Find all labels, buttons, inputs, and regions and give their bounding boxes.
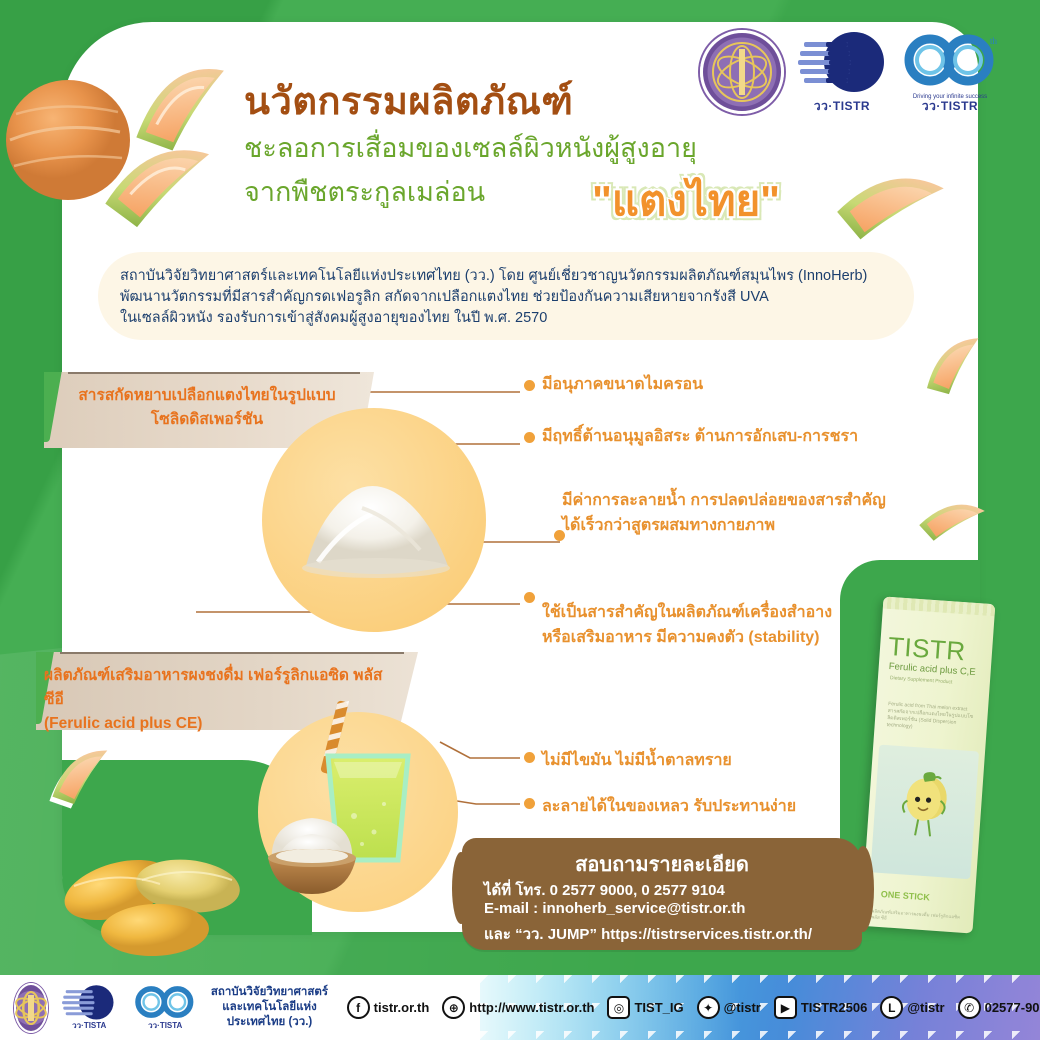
facebook-icon[interactable]: f — [347, 996, 370, 1019]
logo-row: วว·TISTR th Driving your infinite succes… — [700, 30, 1000, 116]
contact-website[interactable]: และ “วว. JUMP” https://tistrservices.tis… — [484, 922, 812, 946]
footer-channel-instagram[interactable]: ◎ TIST_IG — [607, 996, 683, 1019]
page-subtitle-line1: ชะลอการเสื่อมของเซลล์ผิวหนังผู้สูงอายุ — [244, 126, 697, 169]
footer-tistr-60th-caption: วว·TISTA — [130, 1019, 200, 1032]
footer-channel-facebook[interactable]: f tistr.or.th — [347, 996, 430, 1019]
intro-line-2: พัฒนานวัตกรรมที่มีสารสำคัญกรดเฟอรูลิก สก… — [120, 289, 769, 305]
highlight-keyword: "แตงไทย" — [592, 168, 780, 234]
footer-tistr-60th-icon: วว·TISTA — [130, 984, 200, 1032]
bullet-dot-2-1 — [524, 752, 535, 763]
powder-visual-circle — [262, 408, 486, 632]
bullet-2-1-line-1: ไม่มีไขมัน ไม่มีน้ำตาลทราย — [542, 752, 732, 769]
twitter-icon[interactable]: ✦ — [697, 996, 720, 1019]
contact-box: สอบถามรายละเอียด ได้ที่ โทร. 0 2577 9000… — [462, 838, 862, 950]
footer-channels: f tistr.or.th ⊕ http://www.tistr.or.th ◎… — [347, 996, 1040, 1019]
sachet-tiny-label: Dietary Supplement Product — [890, 675, 953, 685]
bullet-dot-1-2 — [524, 432, 535, 443]
line-icon[interactable]: L — [880, 996, 903, 1019]
page-subtitle-line2: จากพืชตระกูลเมล่อน — [244, 170, 485, 213]
infographic-stage: นวัตกรรมผลิตภัณฑ์ ชะลอการเสื่อมของเซลล์ผ… — [0, 0, 1040, 1040]
footer-channel-website[interactable]: ⊕ http://www.tistr.or.th — [442, 996, 594, 1019]
drink-visual-circle — [258, 712, 458, 912]
banner1-line1: สารสกัดหยาบเปลือกแตงไทยในรูปแบบ — [78, 387, 335, 404]
bullet-1-3: มีค่าการละลายน้ำ การปลดปล่อยของสารสำคัญ … — [562, 488, 886, 538]
footer-bar: วว·TISTA วว·TISTA สถาบันวิจัยวิทยาศาสตร์… — [0, 975, 1040, 1040]
footer-org-name: สถาบันวิจัยวิทยาศาสตร์ และเทคโนโลยีแห่งป… — [210, 985, 328, 1030]
footer-channel-phone-label: 02577-9000 — [985, 1000, 1040, 1015]
phone-icon[interactable]: ✆ — [958, 996, 981, 1019]
instagram-icon[interactable]: ◎ — [607, 996, 630, 1019]
bullet-dot-1-1 — [524, 380, 535, 391]
footer-channel-instagram-label: TIST_IG — [634, 1000, 683, 1015]
bullet-1-3-line-1: มีค่าการละลายน้ำ การปลดปล่อยของสารสำคัญ — [562, 492, 886, 509]
sachet-footer-note: ผลิตภัณฑ์เสริมอาหารผงชงดื่ม เฟอร์รูลิกแอ… — [871, 908, 962, 926]
intro-line-3: ในเซลล์ผิวหนัง รองรับการเข้าสู่สังคมผู้ส… — [120, 310, 547, 326]
tistr-logo-caption: วว·TISTR — [796, 97, 888, 116]
bullet-1-3-line-2: ได้เร็วกว่าสูตรผสมทางกายภาพ — [562, 517, 775, 534]
footer-ministry-seal-icon — [14, 983, 48, 1033]
ministry-seal-icon — [700, 30, 784, 114]
bullet-1-2: มีฤทธิ์ต้านอนุมูลอิสระ ต้านการอักเสบ-การ… — [542, 424, 858, 449]
bullet-dot-1-4 — [524, 592, 535, 603]
footer-channel-youtube-label: TISTR2506 — [801, 1000, 867, 1015]
bullet-2-2: ละลายได้ในของเหลว รับประทานง่าย — [542, 794, 796, 819]
footer-tistr-caption: วว·TISTA — [58, 1019, 120, 1032]
melon-character-icon — [897, 766, 958, 846]
youtube-icon[interactable]: ▶ — [774, 996, 797, 1019]
globe-icon[interactable]: ⊕ — [442, 996, 465, 1019]
tistr-60th-caption: วว·TISTR — [900, 97, 1000, 116]
intro-box: สถาบันวิจัยวิทยาศาสตร์และเทคโนโลยีแห่งปร… — [98, 252, 914, 340]
footer-channel-twitter[interactable]: ✦ @tistr — [697, 996, 761, 1019]
bullet-1-1: มีอนุภาคขนาดไมครอน — [542, 372, 703, 397]
product-sachet: TISTR Ferulic acid plus C,E Dietary Supp… — [861, 596, 996, 933]
contact-phone: ได้ที่ โทร. 0 2577 9000, 0 2577 9104 — [484, 878, 725, 902]
footer-channel-twitter-label: @tistr — [724, 1000, 761, 1015]
footer-channel-website-label: http://www.tistr.or.th — [469, 1000, 594, 1015]
bullet-1-2-line-1: มีฤทธิ์ต้านอนุมูลอิสระ ต้านการอักเสบ-การ… — [542, 428, 858, 445]
banner2-top-rule — [60, 652, 404, 654]
footer-channel-youtube[interactable]: ▶ TISTR2506 — [774, 996, 867, 1019]
bullet-dot-1-3 — [554, 530, 565, 541]
banner1-line2: โซลิดดิสเพอร์ชัน — [151, 411, 263, 428]
footer-tistr-logo-icon: วว·TISTA — [58, 984, 120, 1032]
footer-channel-line-label: @tistr — [907, 1000, 944, 1015]
bullet-1-1-line-1: มีอนุภาคขนาดไมครอน — [542, 376, 703, 393]
contact-title: สอบถามรายละเอียด — [462, 848, 862, 880]
page-title: นวัตกรรมผลิตภัณฑ์ — [244, 70, 573, 131]
banner-top-rule — [68, 372, 360, 374]
tistr-logo-icon: วว·TISTR — [796, 30, 888, 116]
footer-channel-phone[interactable]: ✆ 02577-9000 — [958, 996, 1040, 1019]
contact-email[interactable]: E-mail : innoherb_service@tistr.or.th — [484, 900, 745, 917]
sachet-description: Ferulic acid from Thai melon extract สาร… — [886, 701, 974, 735]
bullet-dot-2-2 — [524, 798, 535, 809]
bullet-1-4-line-1: ใช้เป็นสารสำคัญในผลิตภัณฑ์เครื่องสำอาง — [542, 604, 832, 621]
svg-text:th: th — [990, 36, 998, 46]
intro-line-1: สถาบันวิจัยวิทยาศาสตร์และเทคโนโลยีแห่งปร… — [120, 268, 867, 284]
footer-channel-line[interactable]: L @tistr — [880, 996, 944, 1019]
bullet-2-2-line-1: ละลายได้ในของเหลว รับประทานง่าย — [542, 798, 796, 815]
footer-org-line1: สถาบันวิจัยวิทยาศาสตร์ — [211, 986, 328, 998]
bullet-1-4-line-2: หรือเสริมอาหาร มีความคงตัว (stability) — [542, 629, 820, 646]
footer-channel-facebook-label: tistr.or.th — [374, 1000, 430, 1015]
sachet-badge: ONE STICK — [881, 889, 931, 902]
banner2-line2: (Ferulic acid plus CE) — [44, 715, 202, 732]
banner2-line1: ผลิตภัณฑ์เสริมอาหารผงชงดื่ม เฟอร์รูลิกแอ… — [44, 667, 382, 708]
footer-org-line2: และเทคโนโลยีแห่งประเทศไทย (วว.) — [222, 1001, 316, 1028]
bullet-2-1: ไม่มีไขมัน ไม่มีน้ำตาลทราย — [542, 748, 732, 773]
tistr-60th-logo-icon: th Driving your infinite success วว·TIST… — [900, 30, 1000, 116]
bullet-1-4: ใช้เป็นสารสำคัญในผลิตภัณฑ์เครื่องสำอาง ห… — [542, 600, 832, 650]
